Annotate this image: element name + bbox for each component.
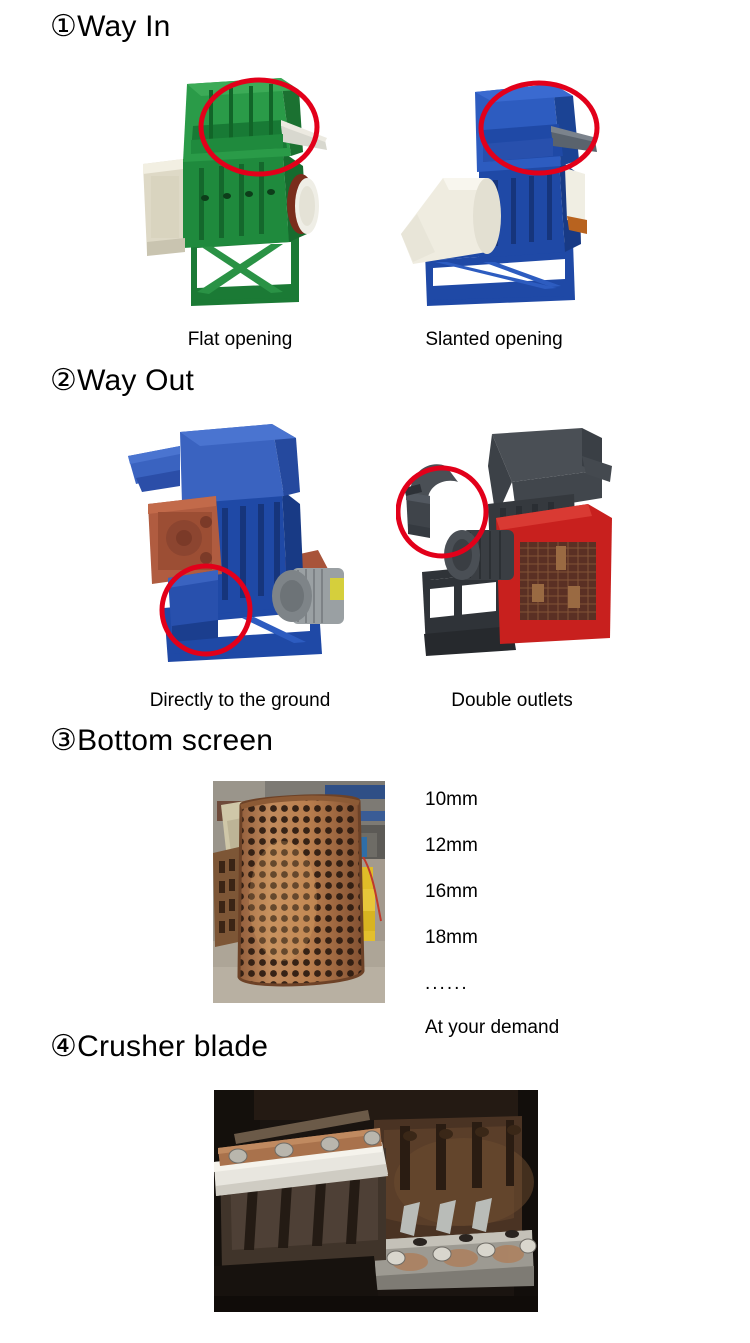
photo-slanted-opening bbox=[383, 56, 605, 314]
photo-crusher-blade bbox=[214, 1090, 538, 1312]
screen-size-list: 10mm 12mm 16mm 18mm ...... At your deman… bbox=[425, 790, 655, 1037]
section-heading-bottom-screen: ③Bottom screen bbox=[50, 726, 273, 756]
photo-bottom-screen bbox=[213, 781, 385, 1003]
caption-double-outlets: Double outlets bbox=[396, 691, 628, 710]
photo-flat-opening bbox=[131, 56, 349, 314]
caption-slanted-opening: Slanted opening bbox=[383, 330, 605, 349]
product-detail-page: ①Way In bbox=[0, 0, 750, 1343]
photo-double-outlets bbox=[396, 426, 628, 676]
screen-size-ellipsis: ...... bbox=[425, 974, 655, 993]
photo-directly-to-the-ground bbox=[122, 412, 358, 678]
screen-size-option: 12mm bbox=[425, 836, 655, 855]
section-heading-crusher-blade: ④Crusher blade bbox=[50, 1032, 268, 1062]
section-heading-way-out: ②Way Out bbox=[50, 366, 194, 396]
screen-size-custom-note: At your demand bbox=[425, 1018, 655, 1037]
screen-size-option: 18mm bbox=[425, 928, 655, 947]
caption-directly-to-the-ground: Directly to the ground bbox=[122, 691, 358, 710]
screen-size-option: 16mm bbox=[425, 882, 655, 901]
section-heading-way-in: ①Way In bbox=[50, 12, 171, 42]
screen-size-option: 10mm bbox=[425, 790, 655, 809]
caption-flat-opening: Flat opening bbox=[131, 330, 349, 349]
